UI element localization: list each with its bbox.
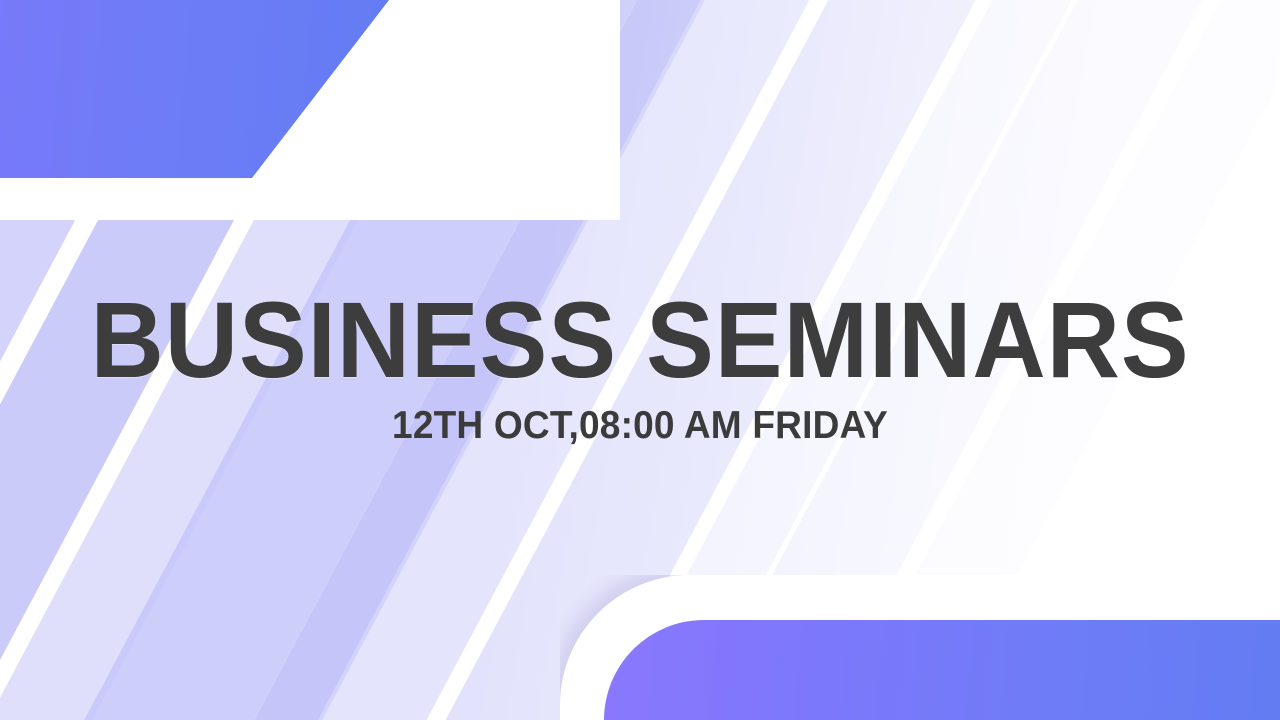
gradient-plate-top-left: [0, 0, 620, 220]
event-datetime: 12TH OCT,08:00 AM FRIDAY: [32, 406, 1248, 445]
event-poster: BUSINESS SEMINARS 12TH OCT,08:00 AM FRID…: [0, 0, 1280, 720]
poster-text-block: BUSINESS SEMINARS 12TH OCT,08:00 AM FRID…: [0, 288, 1280, 445]
event-title: BUSINESS SEMINARS: [38, 288, 1241, 392]
gradient-plate-bottom-right: [560, 575, 1280, 720]
plate-bottom-right-fill: [604, 620, 1280, 720]
